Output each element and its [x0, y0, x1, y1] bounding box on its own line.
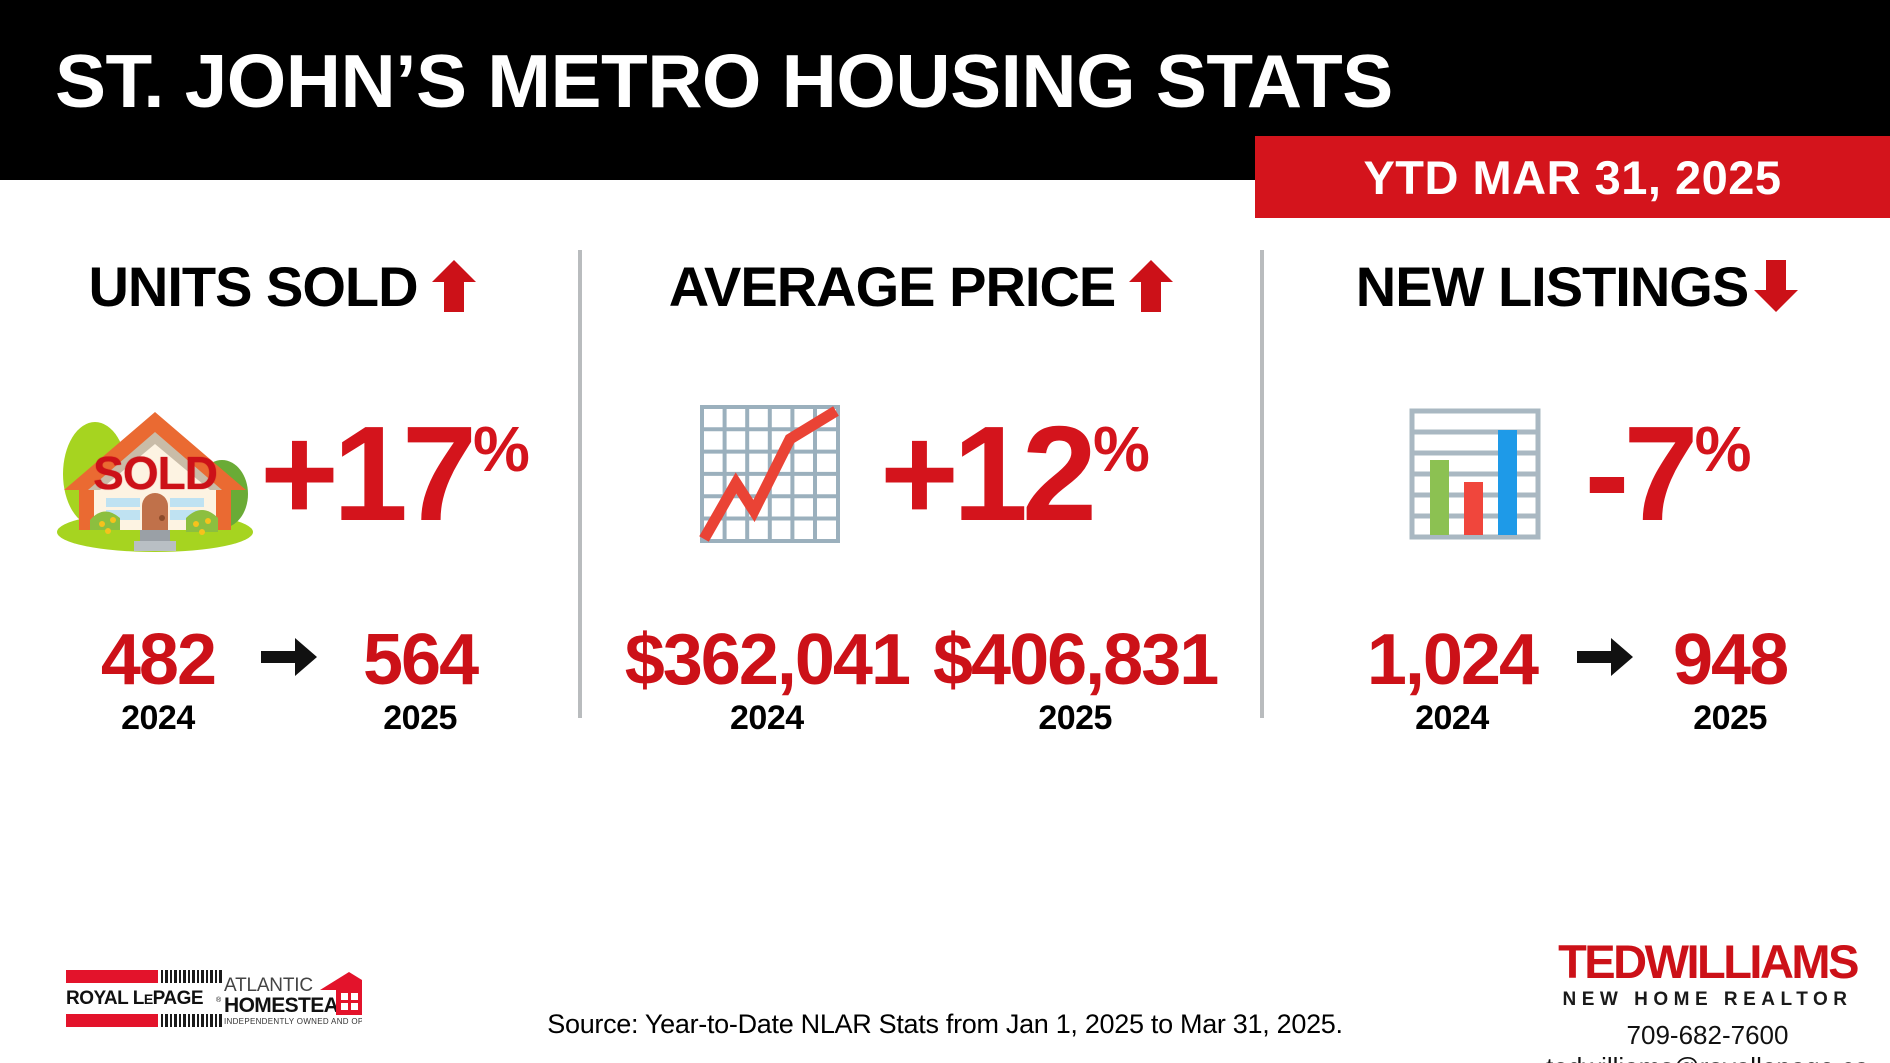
agent-tagline: NEW HOME REALTOR	[1530, 986, 1885, 1015]
new-listings-prev-value: 1,024	[1367, 624, 1537, 696]
arrow-right-icon	[1577, 624, 1633, 678]
new-listings-prev: 1,024 2024	[1367, 624, 1537, 742]
average-price-next: $406,831 2025	[933, 624, 1217, 742]
average-price-percent-change: + 12 %	[880, 419, 1148, 530]
svg-text:®: ®	[216, 996, 222, 1004]
agent-name-part2: WILLIAMS	[1645, 935, 1857, 988]
svg-text:ATLANTIC: ATLANTIC	[224, 975, 313, 996]
line-chart-icon	[694, 399, 846, 549]
units-sold-next: 564 2025	[363, 624, 477, 742]
ytd-badge: YTD MAR 31, 2025	[1255, 136, 1890, 218]
new-listings-next-year: 2025	[1673, 696, 1787, 742]
units-sold-change-value: 17	[333, 419, 471, 530]
average-price-next-year: 2025	[933, 696, 1217, 742]
new-listings-change-value: 7	[1623, 419, 1692, 530]
units-sold-heading-label: UNITS SOLD	[88, 254, 417, 319]
new-listings-change-sign: -	[1585, 419, 1624, 530]
average-price-change-sign: +	[880, 419, 953, 530]
new-listings-heading-row: NEW LISTINGS	[1264, 248, 1890, 324]
average-price-next-value: $406,831	[933, 624, 1217, 696]
agent-name-part1: TED	[1558, 935, 1645, 988]
units-sold-prev: 482 2024	[101, 624, 215, 742]
sold-label: SOLD	[50, 446, 260, 500]
units-sold-percent-change: + 17 %	[260, 419, 528, 530]
units-sold-comparison-row: 482 2024 564 2025	[0, 624, 578, 754]
new-listings-percent-symbol: %	[1695, 423, 1752, 475]
average-price-prev-year: 2024	[625, 696, 909, 742]
page-title: ST. JOHN’S METRO HOUSING STATS	[55, 38, 1393, 124]
stat-column-units-sold: UNITS SOLD	[0, 248, 578, 754]
new-listings-next-value: 948	[1673, 624, 1787, 696]
agent-logo-name: TEDWILLIAMS	[1558, 938, 1857, 985]
arrow-up-icon	[1129, 260, 1173, 312]
units-sold-percent-symbol: %	[473, 423, 530, 475]
infographic-page: ST. JOHN’S METRO HOUSING STATS YTD MAR 3…	[0, 0, 1890, 1063]
house-sold-icon: SOLD	[50, 394, 260, 554]
ytd-badge-label: YTD MAR 31, 2025	[1255, 136, 1890, 218]
units-sold-change-sign: +	[260, 419, 333, 530]
average-price-visual-row: + 12 %	[582, 324, 1260, 624]
units-sold-next-value: 564	[363, 624, 477, 696]
agent-phone[interactable]: 709-682-7600	[1530, 1019, 1885, 1052]
svg-text:ROYAL LEPAGE: ROYAL LEPAGE	[66, 988, 203, 1009]
arrow-down-icon	[1754, 260, 1798, 312]
agent-contact-block: TEDWILLIAMS NEW HOME REALTOR 709-682-760…	[1530, 938, 1885, 1063]
average-price-comparison-row: $362,041 2024 $406,831 2025	[582, 624, 1260, 754]
units-sold-next-year: 2025	[363, 696, 477, 742]
new-listings-percent-change: - 7 %	[1585, 419, 1750, 530]
average-price-prev: $362,041 2024	[625, 624, 909, 742]
new-listings-heading-label: NEW LISTINGS	[1356, 254, 1748, 319]
new-listings-visual-row: - 7 %	[1264, 324, 1890, 624]
average-price-change-value: 12	[953, 419, 1091, 530]
arrow-right-icon	[261, 624, 317, 678]
bar-chart-icon	[1405, 404, 1545, 544]
units-sold-prev-value: 482	[101, 624, 215, 696]
new-listings-prev-year: 2024	[1367, 696, 1537, 742]
arrow-up-icon	[432, 260, 476, 312]
agent-email[interactable]: tedwilliams@royallepage.ca	[1530, 1051, 1885, 1063]
average-price-percent-symbol: %	[1093, 423, 1150, 475]
new-listings-next: 948 2025	[1673, 624, 1787, 742]
stat-column-average-price: AVERAGE PRICE	[582, 248, 1260, 754]
units-sold-visual-row: SOLD + 17 %	[0, 324, 578, 624]
average-price-heading-row: AVERAGE PRICE	[582, 248, 1260, 324]
new-listings-comparison-row: 1,024 2024 948 2025	[1264, 624, 1890, 754]
units-sold-prev-year: 2024	[101, 696, 215, 742]
stat-column-new-listings: NEW LISTINGS	[1264, 248, 1890, 754]
average-price-heading-label: AVERAGE PRICE	[669, 254, 1115, 319]
average-price-prev-value: $362,041	[625, 624, 909, 696]
units-sold-heading-row: UNITS SOLD	[0, 248, 578, 324]
